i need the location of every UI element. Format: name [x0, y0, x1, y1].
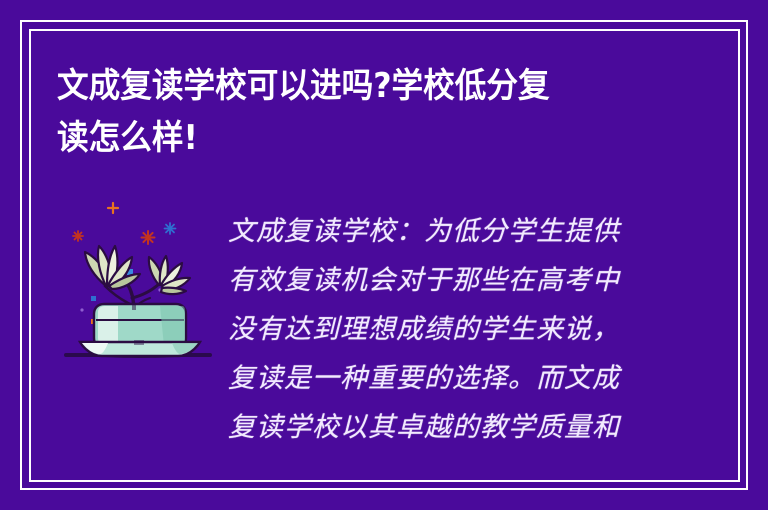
potted-plant-illustration: [60, 190, 220, 370]
flower-head-left: [85, 246, 140, 289]
sparkle-icon-red-left: [73, 231, 83, 241]
body-copy: 文成复读学校：为低分学生提供 有效复读机会对于那些在高考中 没有达到理想成绩的学…: [228, 207, 668, 452]
pot-saucer: [80, 340, 200, 356]
sparkle-icon-blue-right: [165, 223, 176, 234]
sparkle-icon-orange-top: [108, 203, 118, 213]
body-line: 复读是一种重要的选择。而文成: [228, 354, 668, 403]
sparkle-icon-red-center: [142, 231, 155, 244]
poster-canvas: 文成复读学校可以进吗?学校低分复读怎么样!: [0, 0, 768, 510]
body-line: 文成复读学校：为低分学生提供: [228, 207, 668, 256]
body-line: 复读学校以其卓越的教学质量和: [228, 403, 668, 452]
sparkle-dot-tiny-a: [80, 308, 83, 311]
body-line: 有效复读机会对于那些在高考中: [228, 256, 668, 305]
page-title: 文成复读学校可以进吗?学校低分复读怎么样!: [57, 60, 578, 164]
body-line: 没有达到理想成绩的学生来说，: [228, 305, 668, 354]
sparkle-dot-blue-mid: [91, 296, 96, 301]
